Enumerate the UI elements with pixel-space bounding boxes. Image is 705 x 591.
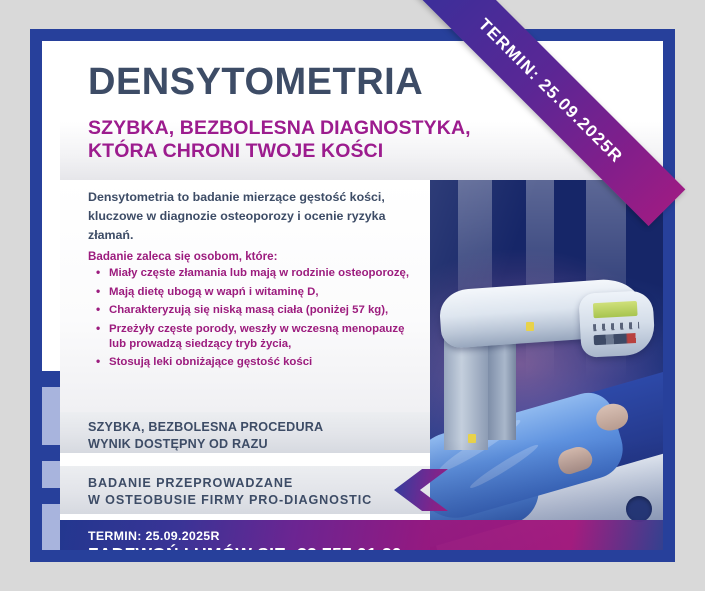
location-banner-line-1: BADANIE PRZEPROWADZANE — [88, 476, 293, 490]
procedure-banner-text: SZYBKA, BEZBOLESNA PROCEDURA WYNIK DOSTĘ… — [88, 419, 323, 454]
left-stripe-block-1 — [42, 371, 60, 387]
phone-cta[interactable]: ZADZWOŃ I UMÓW SIĘ: 32 757 01 20 — [88, 544, 402, 550]
procedure-banner: SZYBKA, BEZBOLESNA PROCEDURA WYNIK DOSTĘ… — [60, 412, 430, 453]
appointment-date: TERMIN: 25.09.2025R — [88, 529, 220, 543]
left-stripe-block-2 — [42, 445, 60, 461]
photo-vignette — [430, 180, 663, 550]
list-item: Mają dietę ubogą w wapń i witaminę D, — [94, 285, 424, 300]
location-banner-text: BADANIE PRZEPROWADZANE W OSTEOBUSIE FIRM… — [88, 475, 372, 510]
densitometry-photo — [430, 180, 663, 550]
procedure-banner-line-2: WYNIK DOSTĘPNY OD RAZU — [88, 437, 268, 451]
left-accent-stripe — [42, 41, 60, 550]
procedure-banner-line-1: SZYBKA, BEZBOLESNA PROCEDURA — [88, 420, 323, 434]
list-item: Przeżyły częste porody, weszły w wczesną… — [94, 322, 424, 352]
body-text-column: Densytometria to badanie mierzące gęstoś… — [60, 180, 430, 412]
location-banner: BADANIE PRZEPROWADZANE W OSTEOBUSIE FIRM… — [60, 466, 430, 514]
list-item: Miały częste złamania lub mają w rodzini… — [94, 266, 424, 281]
lead-paragraph: Densytometria to badanie mierzące gęstoś… — [88, 188, 418, 245]
left-stripe-white-section — [42, 41, 60, 371]
contact-bar: TERMIN: 25.09.2025R ZADZWOŃ I UMÓW SIĘ: … — [60, 520, 430, 550]
page-subtitle: SZYBKA, BEZBOLESNA DIAGNOSTYKA, KTÓRA CH… — [88, 117, 508, 163]
recommendation-heading: Badanie zaleca się osobom, które: — [88, 250, 277, 263]
poster-root: DENSYTOMETRIA SZYBKA, BEZBOLESNA DIAGNOS… — [0, 0, 705, 591]
list-item: Charakteryzują się niską masą ciała (pon… — [94, 303, 424, 318]
photo-scene — [430, 180, 663, 550]
page-title: DENSYTOMETRIA — [88, 63, 423, 101]
left-stripe-block-3 — [42, 488, 60, 504]
recommendation-list: Miały częste złamania lub mają w rodzini… — [94, 266, 424, 374]
contact-bar-extension — [430, 520, 663, 550]
location-banner-line-2: W OSTEOBUSIE FIRMY PRO-DIAGNOSTIC — [88, 493, 372, 507]
list-item: Stosują leki obniżające gęstość kości — [94, 355, 424, 370]
